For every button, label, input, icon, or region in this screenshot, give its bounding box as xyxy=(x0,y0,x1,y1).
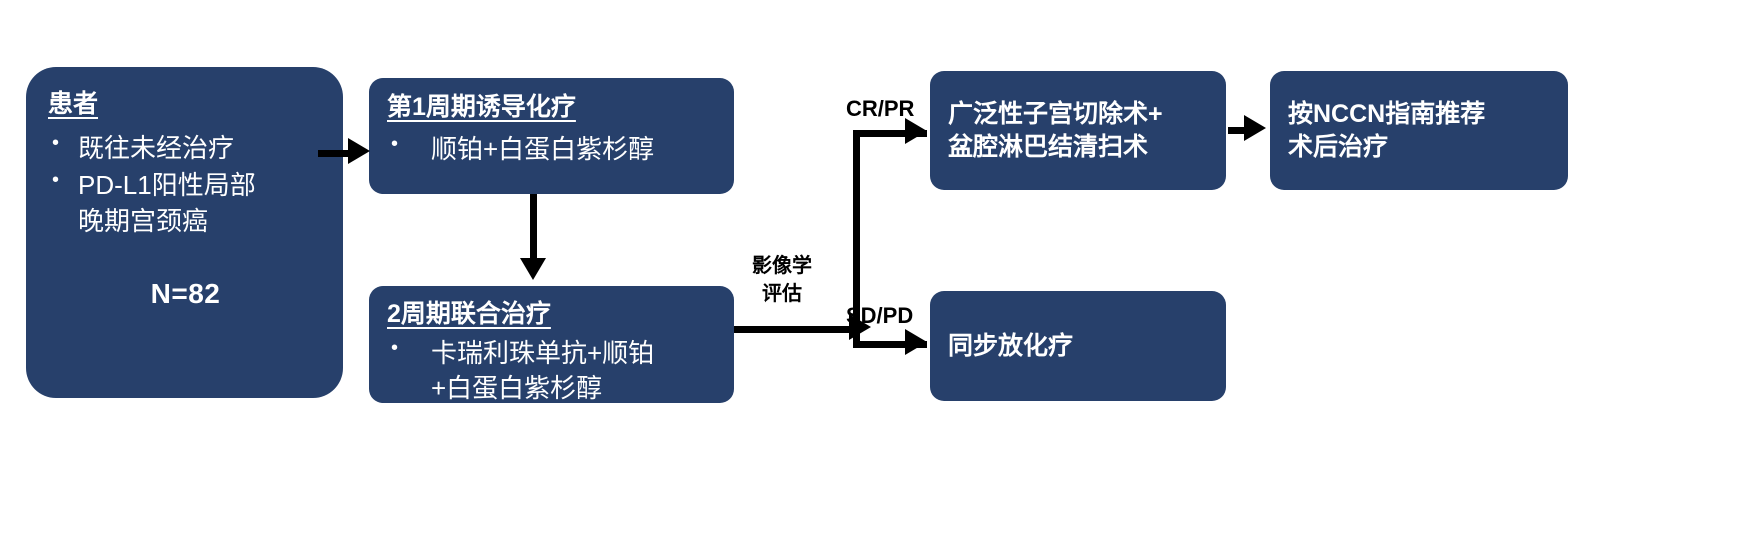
node-combination-therapy[interactable]: 2周期联合治疗 卡瑞利珠单抗+顺铂 +白蛋白紫杉醇 xyxy=(369,286,734,403)
edge-label-imaging-assessment: 影像学 评估 xyxy=(744,252,820,309)
node-induction-chemo-title: 第1周期诱导化疗 xyxy=(387,92,718,123)
arrow-head-icon xyxy=(1244,115,1266,141)
edge-label-sd-pd: SD/PD xyxy=(846,303,913,329)
connector-combination-to-assessment xyxy=(734,326,856,333)
node-combination-therapy-bullets: 卡瑞利珠单抗+顺铂 +白蛋白紫杉醇 xyxy=(387,336,718,405)
arrow-head-icon xyxy=(348,138,370,164)
node-nccn-postop-therapy[interactable]: 按NCCN指南推荐 术后治疗 xyxy=(1270,71,1568,190)
node-patients-title: 患者 xyxy=(48,89,323,120)
node-induction-chemo-bullets: 顺铂+白蛋白紫杉醇 xyxy=(387,132,718,166)
edge-label-cr-pr: CR/PR xyxy=(846,96,914,122)
list-item: 既往未经治疗 xyxy=(48,131,323,165)
connector-induction-to-combination xyxy=(530,194,537,262)
list-item: 顺铂+白蛋白紫杉醇 xyxy=(387,132,718,166)
node-radical-surgery[interactable]: 广泛性子宫切除术+ 盆腔淋巴结清扫术 xyxy=(930,71,1226,190)
node-patients-bullets: 既往未经治疗 PD-L1阳性局部 晚期宫颈癌 xyxy=(48,131,323,240)
node-induction-chemo[interactable]: 第1周期诱导化疗 顺铂+白蛋白紫杉醇 xyxy=(369,78,734,194)
node-radical-surgery-line-1: 广泛性子宫切除术+ xyxy=(948,98,1210,131)
node-patients[interactable]: 患者 既往未经治疗 PD-L1阳性局部 晚期宫颈癌 N=82 xyxy=(26,67,343,398)
arrow-head-icon xyxy=(520,258,546,280)
node-patients-sample-size: N=82 xyxy=(48,278,323,310)
arrow-head-icon xyxy=(905,329,927,355)
node-combination-therapy-title: 2周期联合治疗 xyxy=(387,299,718,330)
list-item: 卡瑞利珠单抗+顺铂 xyxy=(387,336,718,370)
node-nccn-postop-therapy-line-1: 按NCCN指南推荐 xyxy=(1288,98,1552,131)
list-item: +白蛋白紫杉醇 xyxy=(387,371,718,405)
list-item: 晚期宫颈癌 xyxy=(48,204,323,238)
edge-label-imaging-line-1: 影像学 xyxy=(744,252,820,280)
node-nccn-postop-therapy-line-2: 术后治疗 xyxy=(1288,131,1552,164)
node-concurrent-chemoradiotherapy[interactable]: 同步放化疗 xyxy=(930,291,1226,401)
node-concurrent-chemoradiotherapy-line-1: 同步放化疗 xyxy=(948,330,1210,363)
edge-label-imaging-line-2: 评估 xyxy=(744,280,820,308)
connector-patients-to-induction xyxy=(318,150,351,157)
list-item: PD-L1阳性局部 xyxy=(48,168,323,202)
node-radical-surgery-line-2: 盆腔淋巴结清扫术 xyxy=(948,131,1210,164)
flowchart-canvas: 患者 既往未经治疗 PD-L1阳性局部 晚期宫颈癌 N=82 第1周期诱导化疗 … xyxy=(0,0,1738,537)
